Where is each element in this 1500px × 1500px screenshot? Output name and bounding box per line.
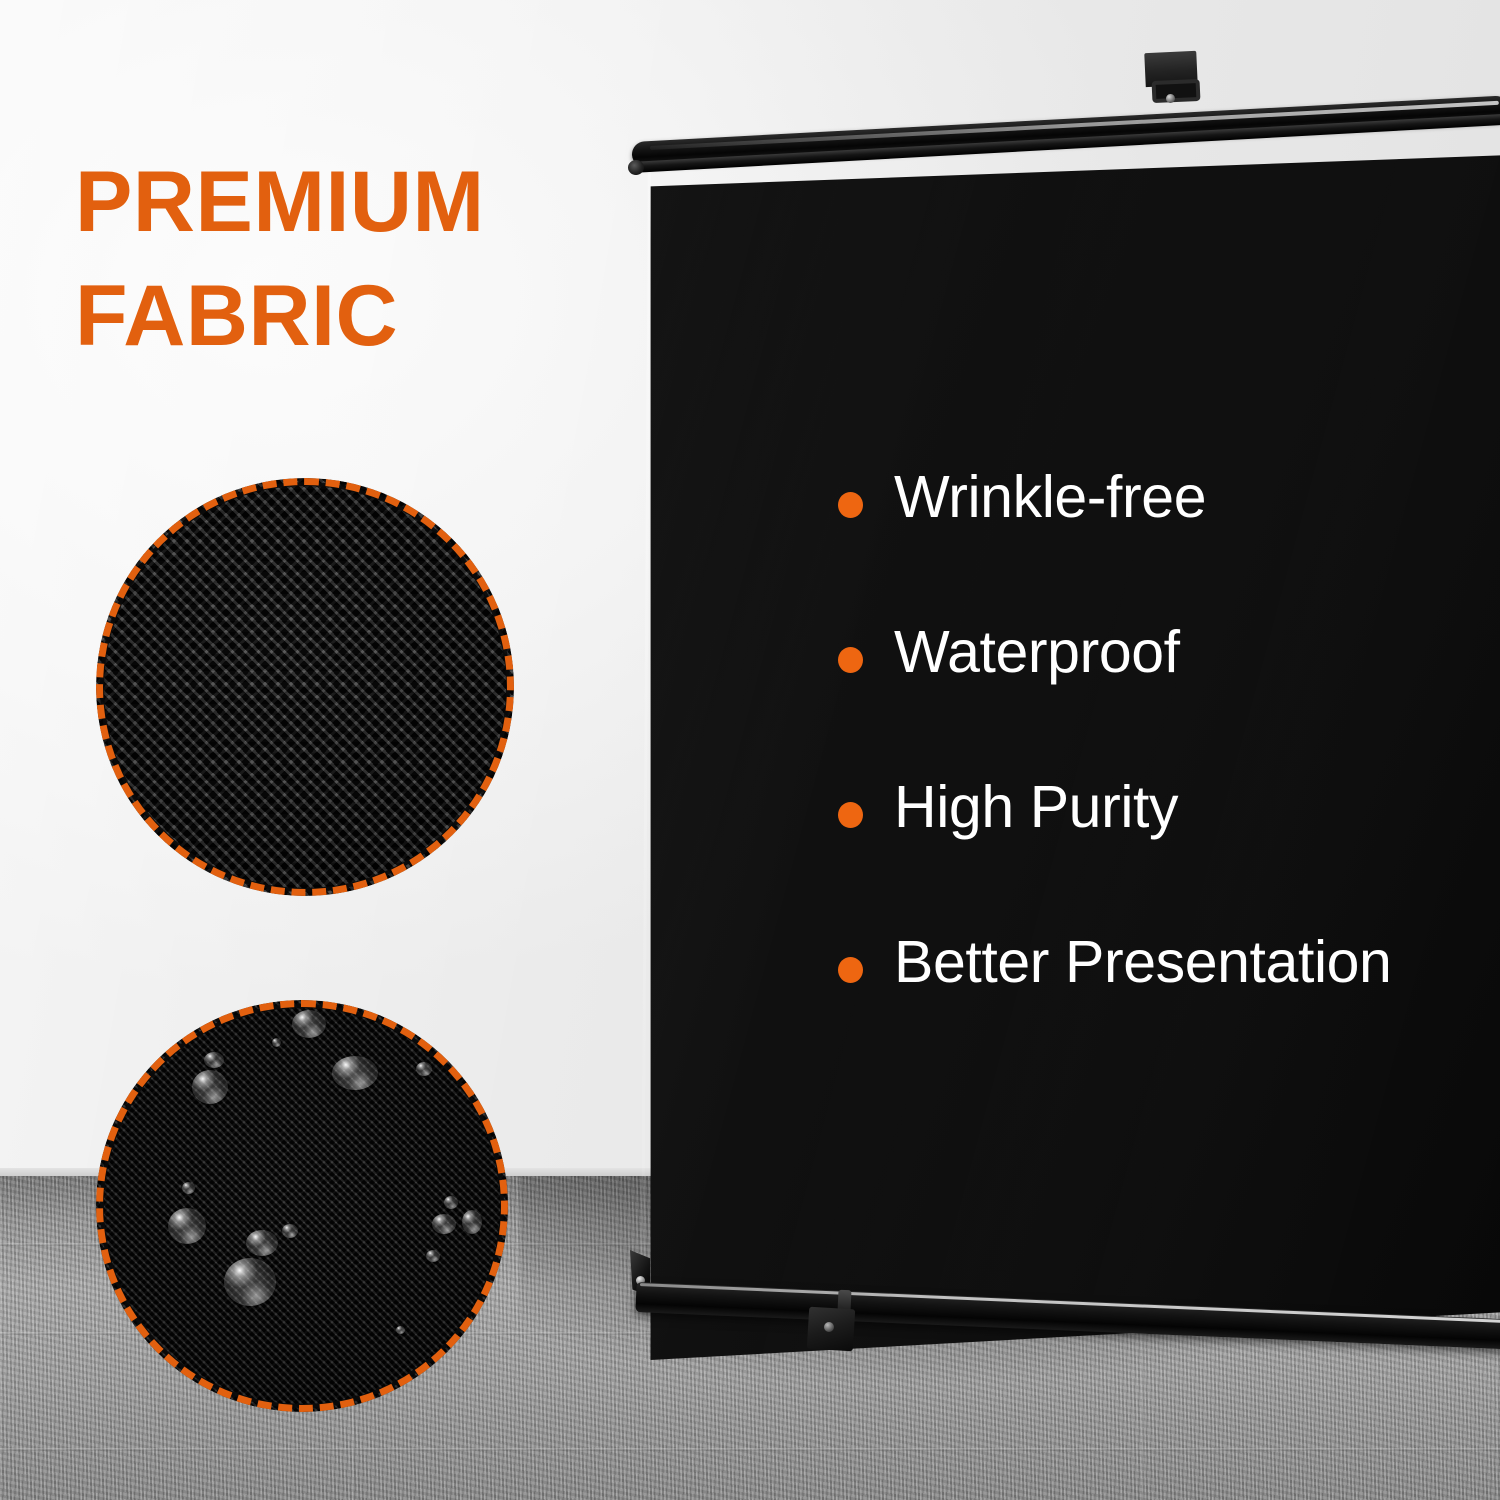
swatch-dashed-border bbox=[96, 478, 514, 896]
list-item: Better Presentation bbox=[838, 933, 1458, 1088]
base-foot-screw bbox=[824, 1322, 834, 1332]
water-beading-closeup-swatch bbox=[96, 1000, 508, 1412]
top-clip-hook-icon bbox=[1152, 79, 1201, 103]
panel-left-edge-highlight bbox=[641, 158, 651, 1358]
list-item: Waterproof bbox=[838, 623, 1458, 778]
bullet-dot-icon bbox=[838, 957, 863, 983]
bullet-dot-icon bbox=[838, 647, 863, 673]
feature-label: High Purity bbox=[894, 778, 1178, 837]
bullet-dot-icon bbox=[838, 802, 863, 828]
list-item: High Purity bbox=[838, 778, 1458, 933]
list-item: Wrinkle-free bbox=[838, 468, 1458, 623]
feature-label: Better Presentation bbox=[894, 933, 1391, 992]
feature-label: Wrinkle-free bbox=[894, 468, 1206, 527]
fabric-weave-closeup-swatch bbox=[96, 478, 514, 896]
rod-end-cap bbox=[628, 160, 645, 176]
feature-label: Waterproof bbox=[894, 623, 1180, 682]
feature-list: Wrinkle-free Waterproof High Purity Bett… bbox=[838, 468, 1458, 1088]
swatch-dashed-border bbox=[96, 1000, 508, 1412]
product-feature-banner: PREMIUM FABRIC Wrinkle-free bbox=[0, 0, 1500, 1500]
page-title: PREMIUM FABRIC bbox=[75, 146, 615, 373]
bullet-dot-icon bbox=[838, 492, 863, 518]
